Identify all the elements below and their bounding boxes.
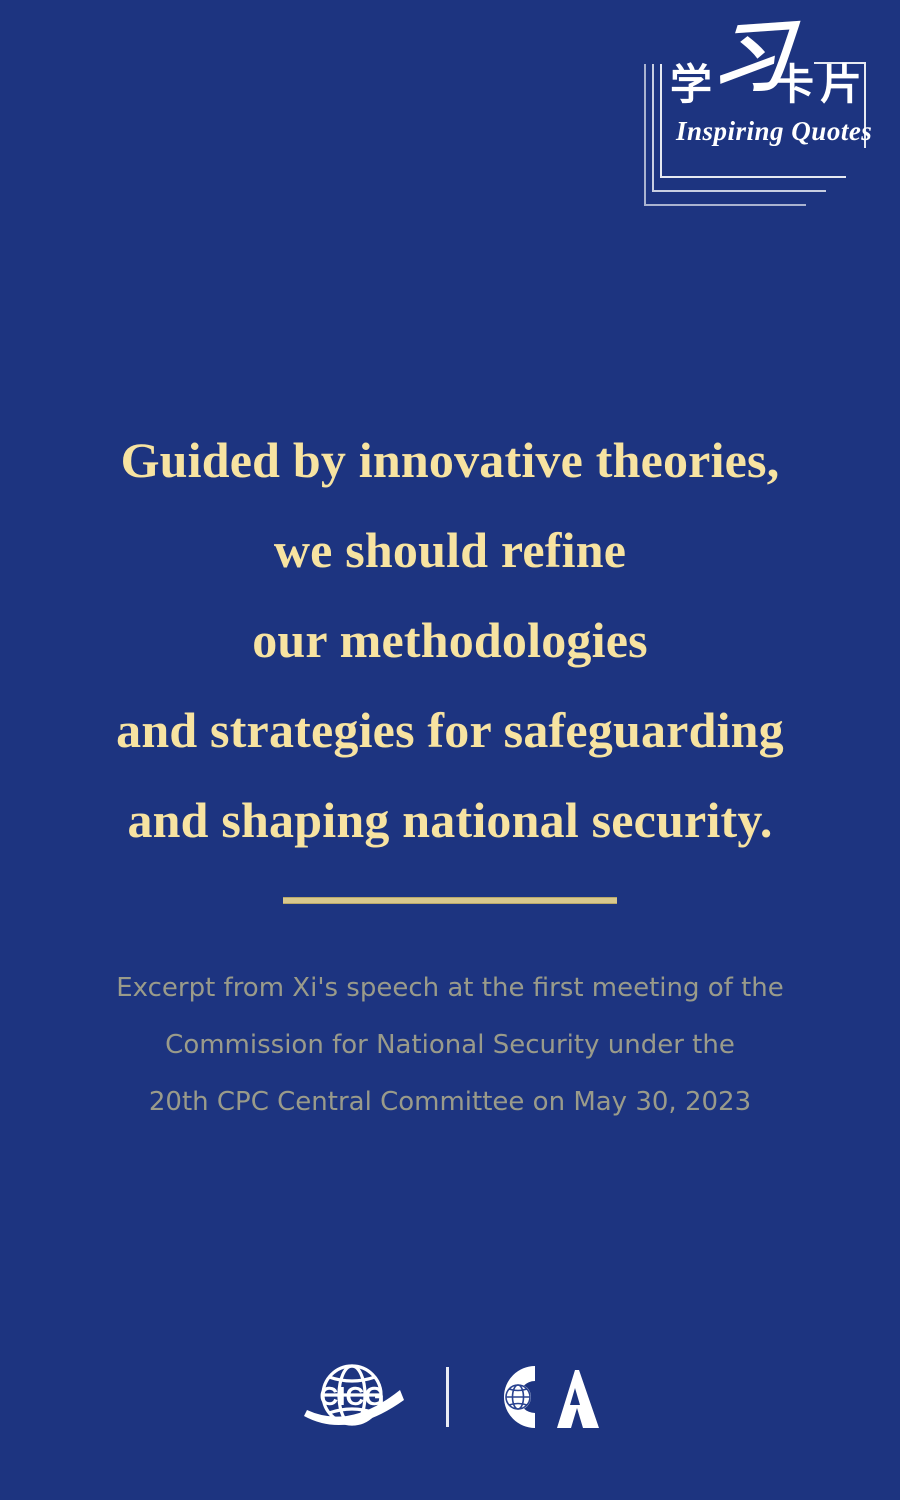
logo-english-subtitle: Inspiring Quotes	[676, 116, 872, 147]
logo-chinese-title: 学 习 卡 片	[668, 22, 868, 114]
quote-line: and strategies for safeguarding	[0, 685, 900, 775]
quote-line: and shaping national security.	[0, 775, 900, 865]
ca-globe-icon	[505, 1384, 531, 1410]
attribution-line: Commission for National Security under t…	[0, 1017, 900, 1074]
attribution-line: Excerpt from Xi's speech at the first me…	[0, 960, 900, 1017]
quote-line: we should refine	[0, 505, 900, 595]
attribution-line: 20th CPC Central Committee on May 30, 20…	[0, 1074, 900, 1131]
cicg-globe-icon: CICG	[296, 1360, 416, 1434]
logo-char-xue: 学	[670, 64, 712, 106]
quote-line: Guided by innovative theories,	[0, 415, 900, 505]
divider-rule	[283, 897, 617, 904]
quote-block: Guided by innovative theories, we should…	[0, 415, 900, 865]
brand-logo: 学 习 卡 片 Inspiring Quotes	[650, 18, 878, 188]
quote-line: our methodologies	[0, 595, 900, 685]
cicg-logo: CICG	[296, 1360, 416, 1434]
footer-logos: CICG	[0, 1352, 900, 1442]
logo-char-ka: 卡	[772, 64, 814, 106]
ca-logo	[479, 1360, 604, 1434]
attribution-block: Excerpt from Xi's speech at the first me…	[0, 960, 900, 1131]
footer-logo-separator	[446, 1367, 449, 1427]
cicg-wordmark: CICG	[320, 1381, 385, 1411]
ca-mark-icon	[479, 1360, 604, 1434]
logo-char-pian: 片	[820, 64, 862, 106]
